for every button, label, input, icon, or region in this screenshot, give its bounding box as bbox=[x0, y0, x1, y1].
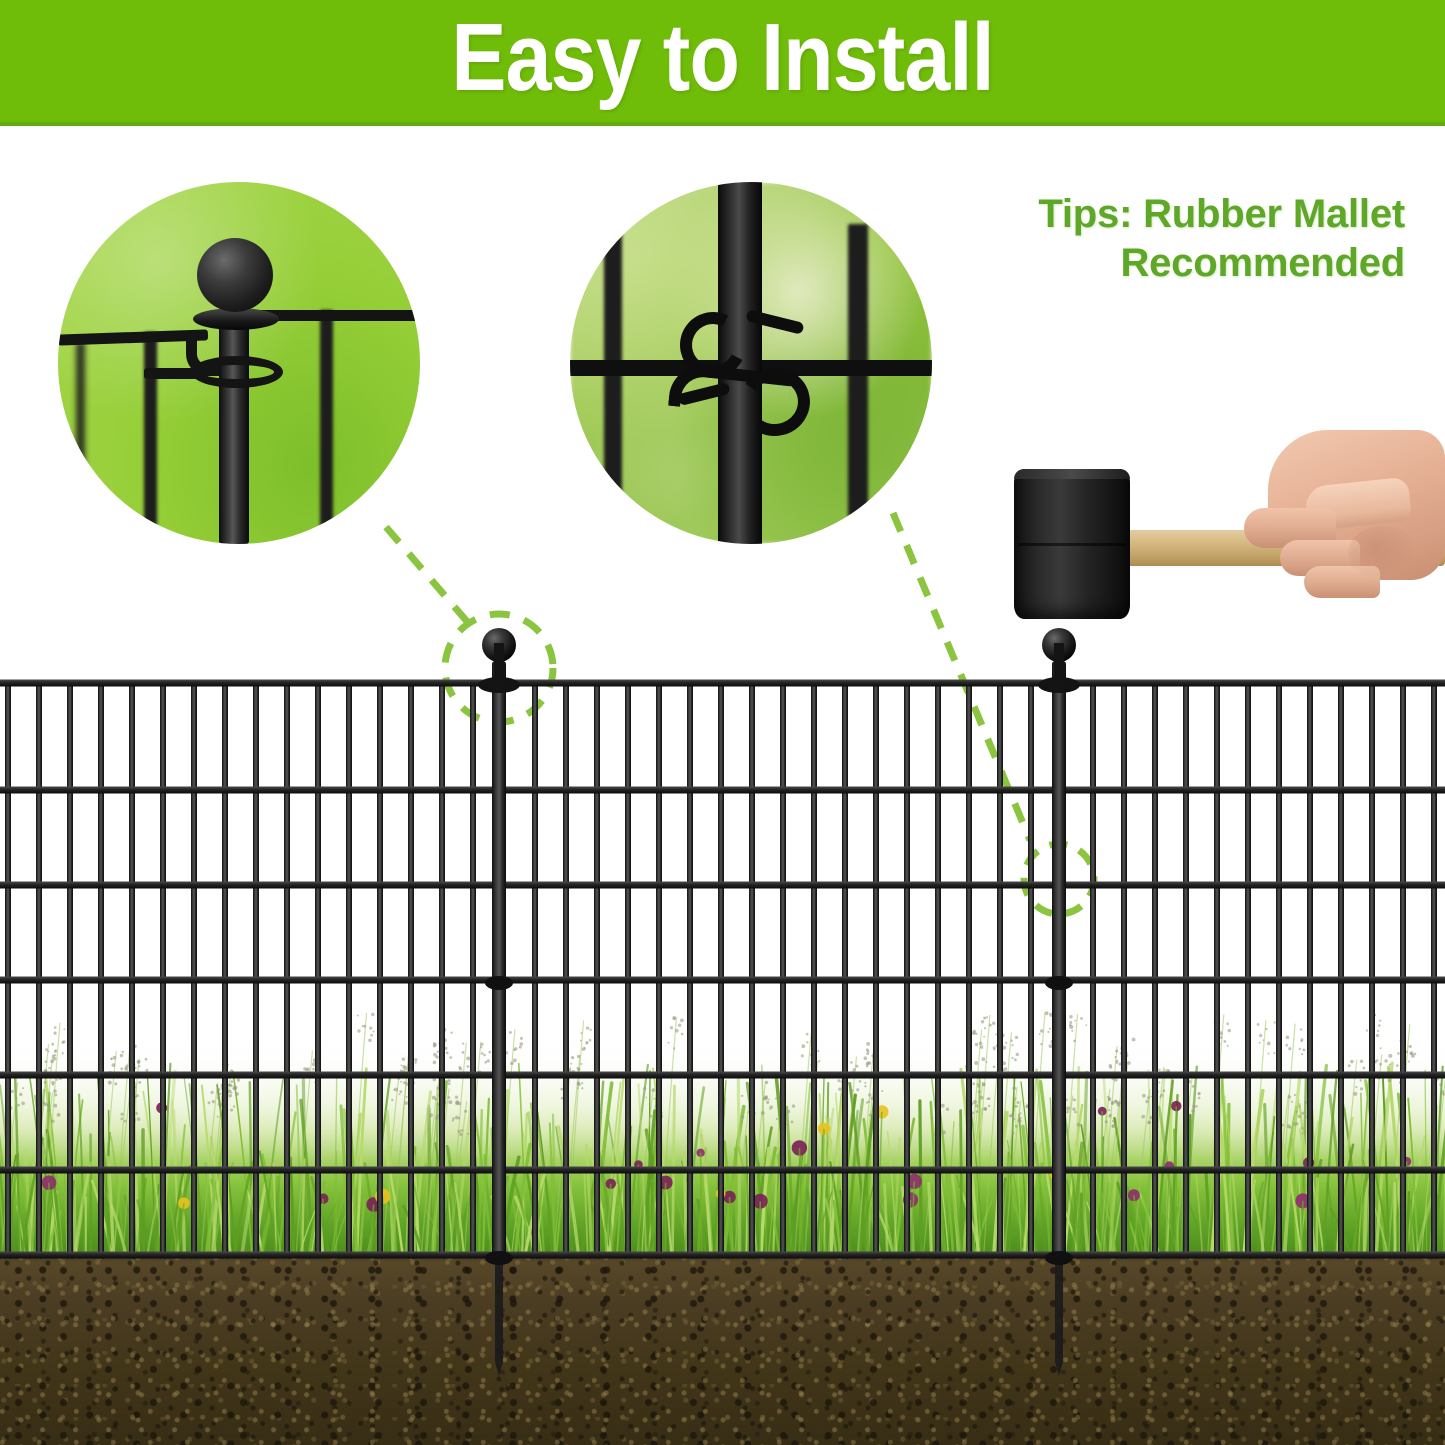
knuckle-shading bbox=[1348, 526, 1418, 580]
mallet-rubber-head bbox=[1014, 469, 1130, 619]
callout-coil-hook-detail bbox=[570, 182, 932, 544]
fence-post-shaft bbox=[492, 661, 506, 1263]
rail-clip-ring bbox=[191, 356, 283, 388]
post-neck bbox=[1054, 643, 1064, 687]
product-infographic: Easy to Install Tips: Rubber Mallet Reco… bbox=[0, 0, 1445, 1445]
fence-post-shaft bbox=[1052, 661, 1066, 1263]
fence-vertical-bar-right bbox=[848, 224, 868, 544]
page-title: Easy to Install bbox=[101, 2, 1344, 114]
coil-hook-joint bbox=[485, 1251, 513, 1265]
header-band-edge bbox=[0, 122, 1445, 126]
post-neck bbox=[494, 643, 504, 687]
background-bar bbox=[76, 342, 85, 544]
fence-horizontal-rail bbox=[0, 882, 1445, 889]
fence-horizontal-rail bbox=[0, 1252, 1445, 1259]
fence-scene bbox=[0, 620, 1445, 1445]
ball-finial-icon bbox=[197, 238, 273, 312]
fence-horizontal-rail bbox=[0, 680, 1445, 687]
coil-hook-joint bbox=[1045, 1251, 1073, 1265]
horizontal-rail-right bbox=[258, 310, 420, 321]
fence-horizontal-rail bbox=[0, 1167, 1445, 1174]
fence-vertical-bar-left bbox=[144, 332, 157, 544]
rubber-mallet-with-hand bbox=[1000, 430, 1445, 630]
coil-hook-joint bbox=[485, 976, 513, 990]
fence-vertical-bar-right bbox=[320, 310, 333, 544]
tips-line-1: Tips: Rubber Mallet bbox=[885, 190, 1405, 239]
callout-post-finial-detail bbox=[58, 182, 420, 544]
fence-vertical-bar-left bbox=[604, 228, 622, 544]
coil-hook-joint bbox=[1045, 976, 1073, 990]
hand-gripping-mallet bbox=[1228, 430, 1445, 605]
fence-horizontal-rail bbox=[0, 977, 1445, 984]
fence-horizontal-rail bbox=[0, 1072, 1445, 1079]
tips-line-2: Recommended bbox=[885, 239, 1405, 288]
fence-post-shaft bbox=[219, 310, 249, 544]
tips-text: Tips: Rubber Mallet Recommended bbox=[885, 190, 1405, 288]
fence-panels bbox=[0, 620, 1445, 1445]
fence-horizontal-rail bbox=[0, 787, 1445, 794]
